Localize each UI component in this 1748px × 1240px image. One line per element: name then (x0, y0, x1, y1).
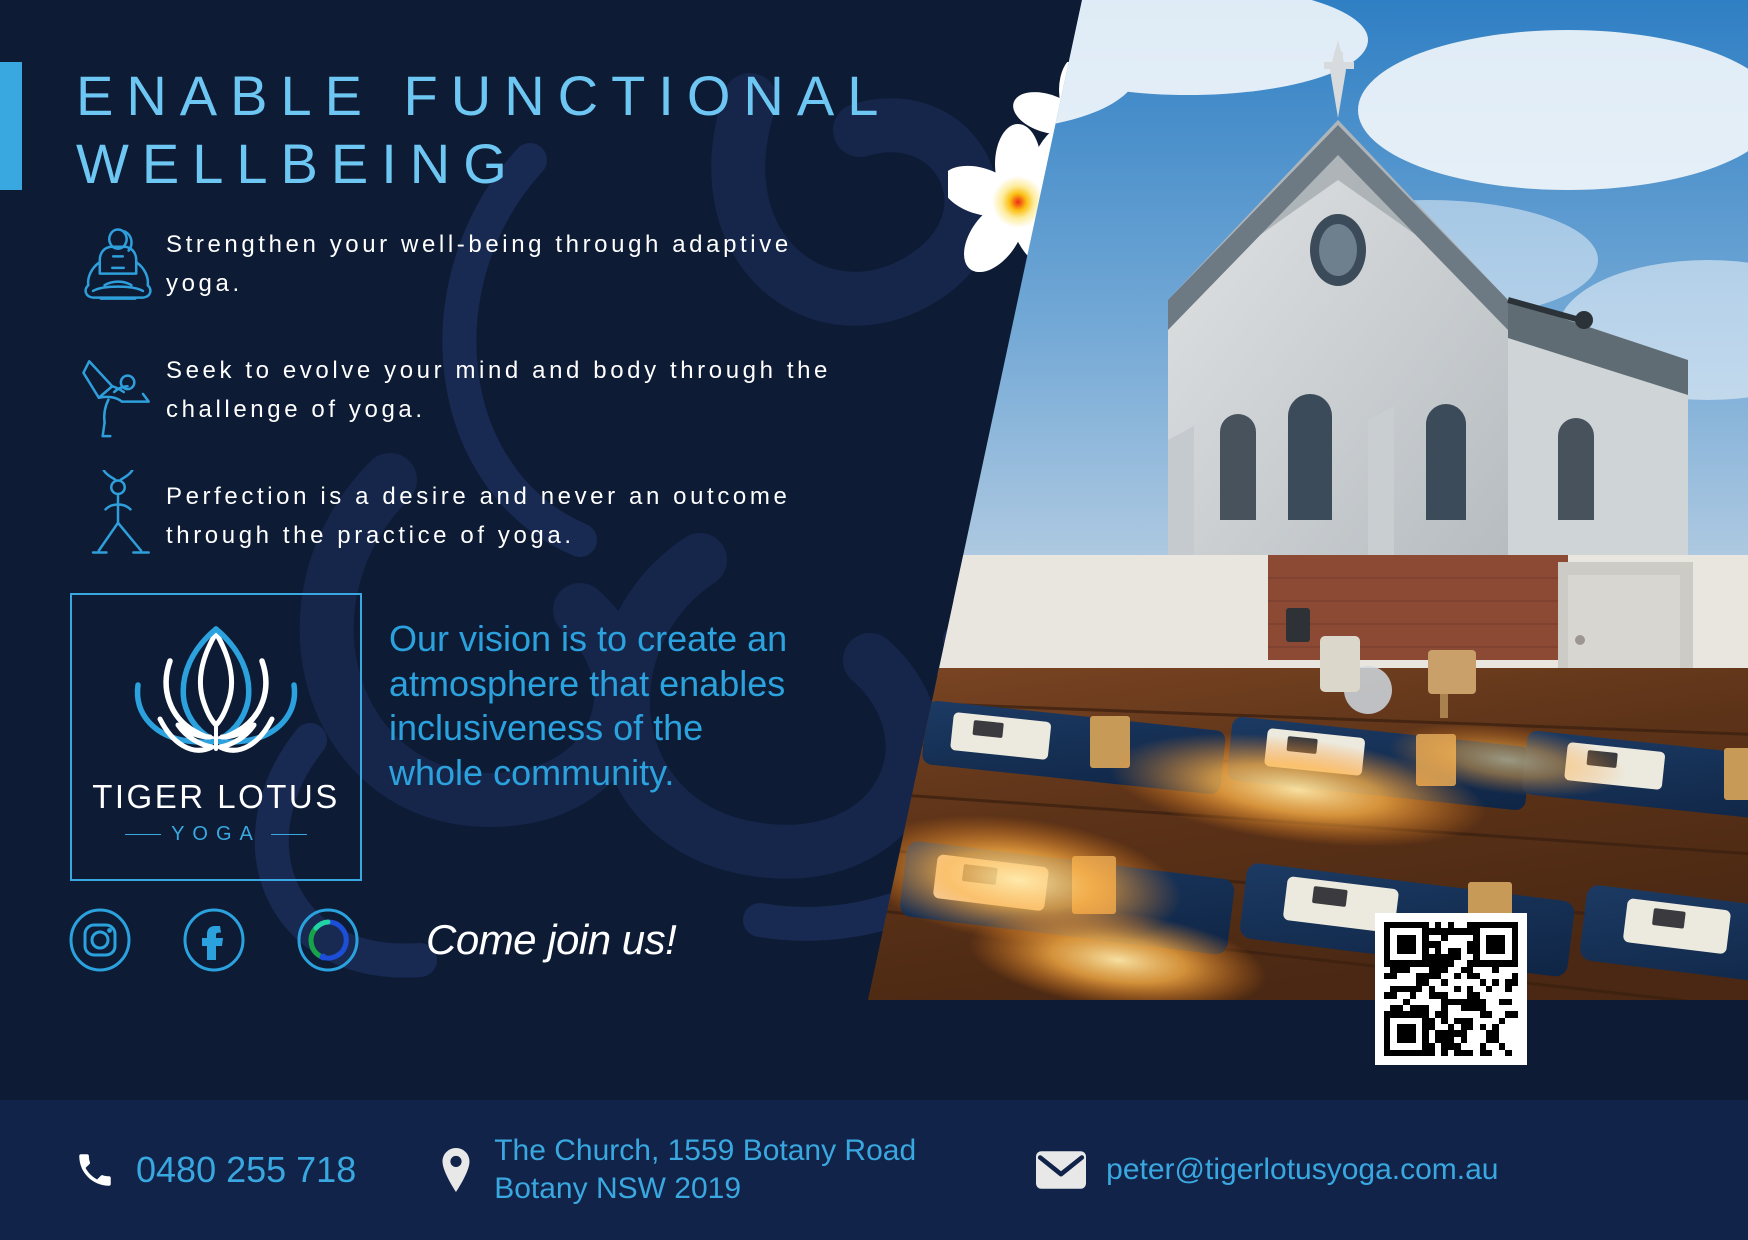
contact-phone[interactable]: 0480 255 718 (74, 1147, 356, 1193)
brand-subtitle: YOGA (72, 823, 360, 846)
brand-name: TIGER LOTUS (72, 778, 360, 816)
mindbody-circle-icon[interactable] (296, 908, 360, 972)
envelope-icon (1036, 1151, 1086, 1189)
location-pin-icon (438, 1148, 474, 1192)
headline-line-1: ENABLE FUNCTIONAL (76, 62, 1076, 130)
qr-code-pattern (1384, 922, 1518, 1056)
list-item-label: Perfection is a desire and never an outc… (166, 470, 870, 556)
list-item: Strengthen your well-being through adapt… (70, 218, 870, 314)
list-item: Perfection is a desire and never an outc… (70, 470, 870, 566)
cta-text: Come join us! (426, 916, 676, 964)
benefit-list: Strengthen your well-being through adapt… (70, 218, 870, 596)
facebook-icon[interactable] (182, 908, 246, 972)
address-line-1: The Church, 1559 Botany Road (494, 1132, 916, 1170)
list-item: Seek to evolve your mind and body throug… (70, 344, 870, 440)
contact-address[interactable]: The Church, 1559 Botany Road Botany NSW … (438, 1132, 916, 1209)
yoga-warrior-pose-icon (70, 470, 166, 566)
brand-logo: TIGER LOTUS YOGA (70, 593, 362, 881)
contact-email[interactable]: peter@tigerlotusyoga.com.au (1036, 1151, 1498, 1189)
phone-icon (74, 1149, 116, 1191)
logo-dash-left (125, 834, 161, 836)
phone-number: 0480 255 718 (136, 1147, 356, 1193)
contact-footer: 0480 255 718 The Church, 1559 Botany Roa… (0, 1100, 1748, 1240)
list-item-label: Strengthen your well-being through adapt… (166, 218, 870, 304)
flyer-canvas: ENABLE FUNCTIONAL WELLBEING (0, 0, 1748, 1240)
social-links: Come join us! (68, 908, 676, 972)
qr-code[interactable] (1375, 913, 1527, 1065)
logo-dash-right (271, 834, 307, 836)
brand-subtitle-label: YOGA (171, 823, 261, 846)
headline-line-2: WELLBEING (76, 130, 1076, 198)
left-accent-bar (0, 62, 22, 190)
list-item-label: Seek to evolve your mind and body throug… (166, 344, 870, 430)
address-line-2: Botany NSW 2019 (494, 1170, 916, 1208)
page-title: ENABLE FUNCTIONAL WELLBEING (76, 62, 1076, 199)
tiger-lotus-mark-icon (108, 617, 324, 787)
vision-statement: Our vision is to create an atmosphere th… (389, 617, 789, 796)
yoga-lotus-pose-icon (70, 218, 166, 314)
instagram-icon[interactable] (68, 908, 132, 972)
email-address: peter@tigerlotusyoga.com.au (1106, 1151, 1498, 1189)
yoga-dancer-pose-icon (70, 344, 166, 440)
